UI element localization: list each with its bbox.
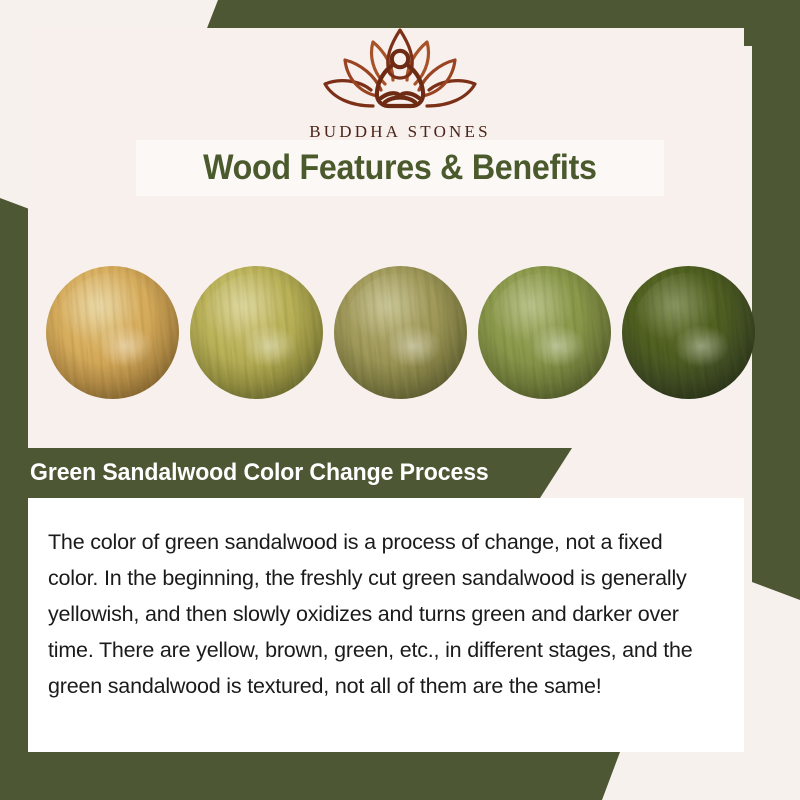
body-paragraph: The color of green sandalwood is a proce… [48,524,710,704]
bead-shading [622,266,755,399]
bead-shading [334,266,467,399]
infographic-canvas: BUDDHA STONES Wood Features & Benefits [0,0,800,800]
bead-shading [478,266,611,399]
frame-band-bottom [0,752,620,800]
bead-stage-3-olive-khaki [334,266,467,399]
page-title: Wood Features & Benefits [203,148,597,188]
lotus-meditation-figure-icon [311,22,489,116]
bead-shading [46,266,179,399]
bead-stage-1-yellow-ochre [46,266,179,399]
body-text-card: The color of green sandalwood is a proce… [28,498,744,752]
section-heading: Green Sandalwood Color Change Process [30,459,489,487]
bead-stage-5-dark-forest [622,266,755,399]
section-header-banner: Green Sandalwood Color Change Process [0,448,572,498]
bead-shading [190,266,323,399]
brand-wordmark: BUDDHA STONES [309,122,491,142]
bead-stage-4-medium-olive [478,266,611,399]
bead-stage-2-yellow-green [190,266,323,399]
brand-logo: BUDDHA STONES [0,22,800,142]
title-banner: Wood Features & Benefits [136,140,664,196]
bead-color-stage-row [0,252,800,412]
